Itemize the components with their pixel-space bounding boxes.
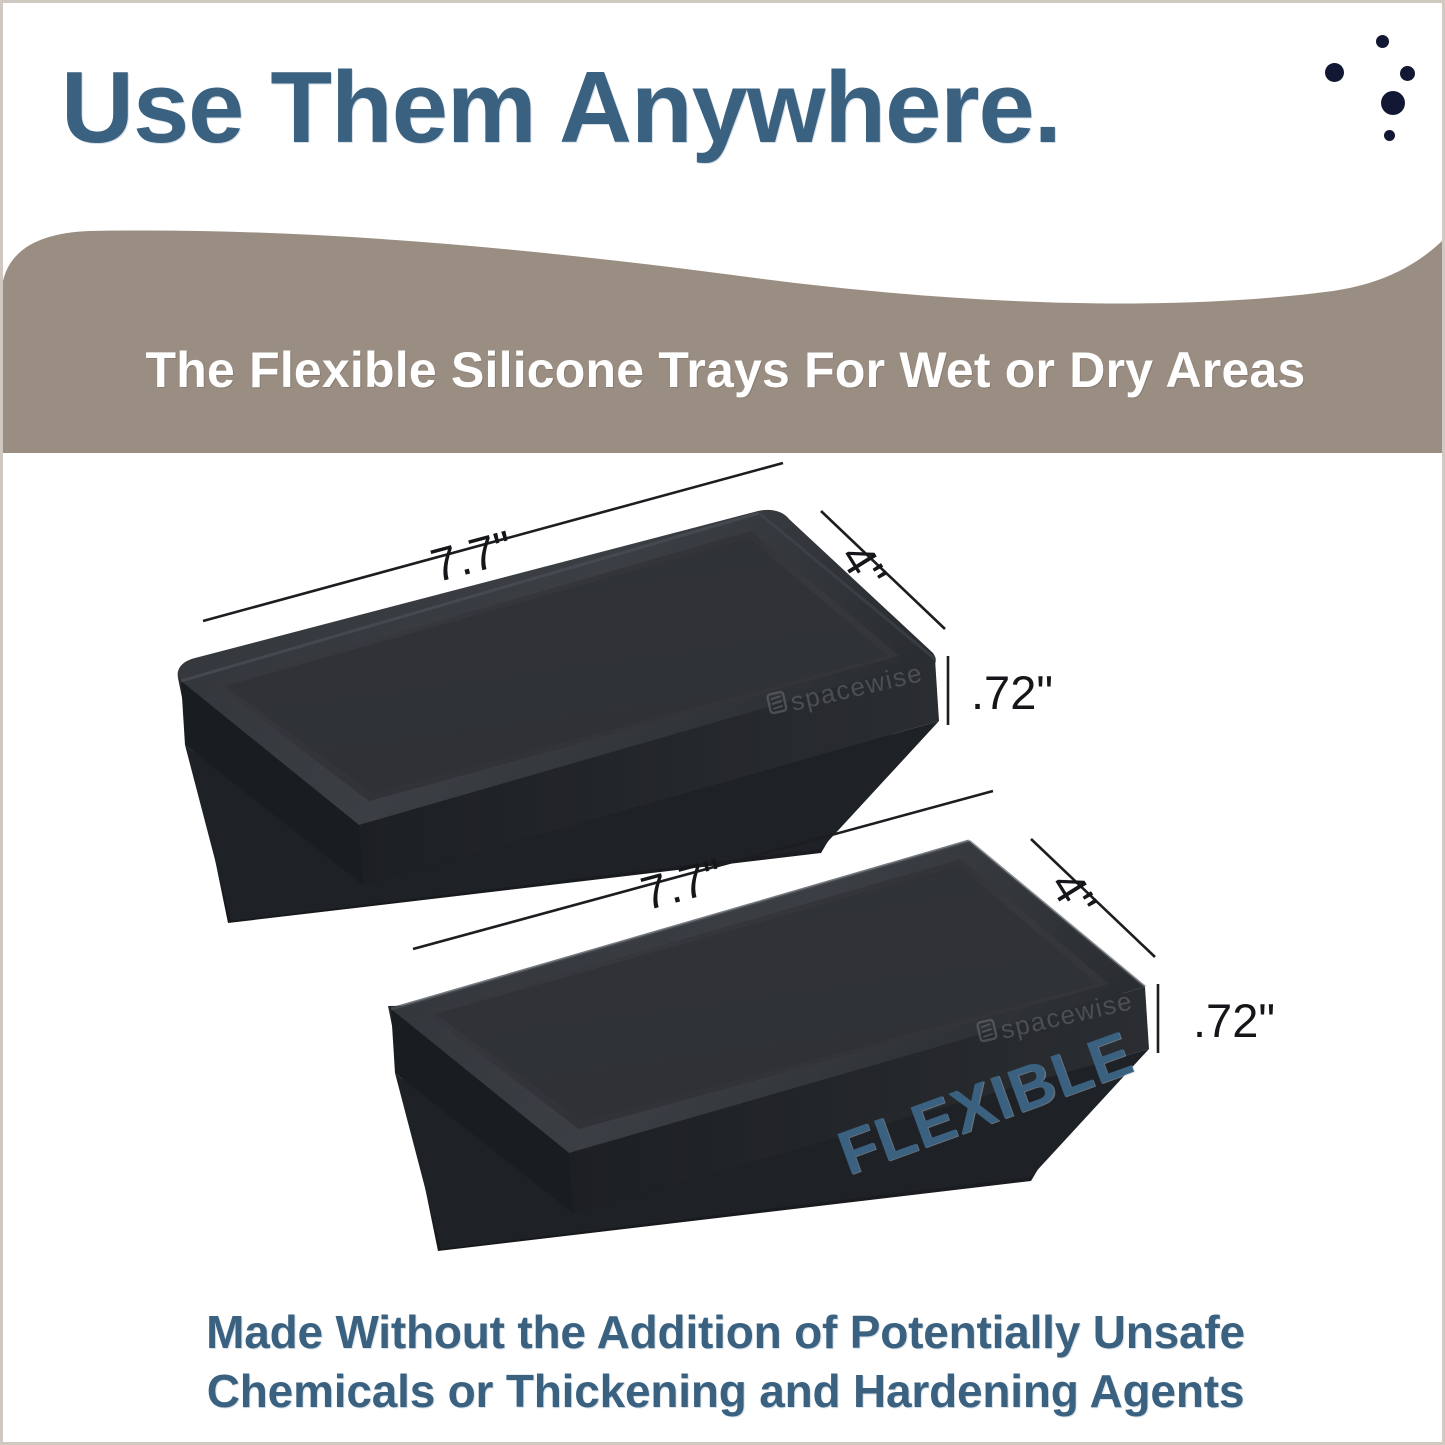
decor-dot [1384,130,1395,141]
tray-top-height-label: .72" [971,665,1053,720]
infographic-canvas: Use Them Anywhere. The Flexible Silicone… [0,0,1445,1445]
tray-top: spacewise [178,510,939,923]
decor-dot [1376,35,1389,48]
decorative-dot-cluster [1283,23,1443,183]
footer-line-1: Made Without the Addition of Potentially… [3,1303,1445,1362]
decor-dot [1381,91,1405,115]
banner-subtitle: The Flexible Silicone Trays For Wet or D… [3,221,1445,453]
tray-bottom-height-label: .72" [1193,993,1275,1048]
product-illustration: spacewise [3,453,1445,1313]
tray-bottom: spacewise [388,841,1149,1251]
footer-claim: Made Without the Addition of Potentially… [3,1303,1445,1421]
decor-dot [1400,66,1415,81]
page-headline: Use Them Anywhere. [61,55,1061,161]
footer-line-2: Chemicals or Thickening and Hardening Ag… [3,1362,1445,1421]
subtitle-banner: The Flexible Silicone Trays For Wet or D… [3,221,1445,453]
decor-dot [1325,63,1344,82]
